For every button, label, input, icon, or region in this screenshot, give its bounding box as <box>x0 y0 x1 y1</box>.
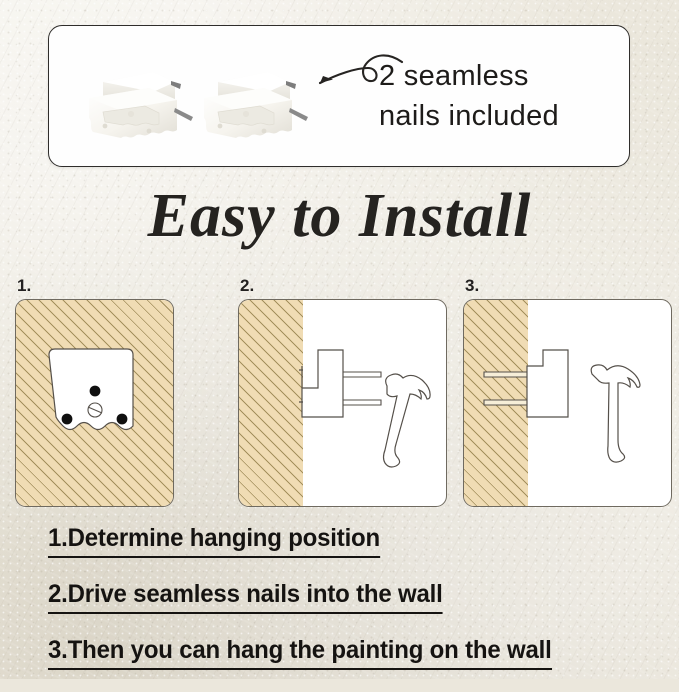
infographic-canvas: 2 seamlessnails included Easy to Install… <box>0 0 679 679</box>
seamless-nail-mount-icon <box>79 64 201 156</box>
instruction-line: 1.Determine hanging position <box>48 524 380 558</box>
step-number: 3. <box>465 277 672 294</box>
hero-headline: 2 seamlessnails included <box>379 56 619 136</box>
instruction-list: 1.Determine hanging position 2.Drive sea… <box>48 524 658 692</box>
seamless-nail-mount-icon <box>194 64 316 156</box>
step-number: 2. <box>240 277 447 294</box>
instruction-line: 2.Drive seamless nails into the wall <box>48 580 443 614</box>
mount-front-view-icon <box>16 300 173 506</box>
step-3-illustration <box>463 299 672 507</box>
step-number: 1. <box>17 277 174 294</box>
step-3: 3. <box>463 277 672 507</box>
hero-card: 2 seamlessnails included <box>48 25 630 167</box>
mount-driven-into-wall-icon <box>464 300 671 506</box>
step-1: 1. <box>15 277 174 507</box>
step-2-illustration <box>238 299 447 507</box>
step-2: 2. <box>238 277 447 507</box>
instruction-line: 3.Then you can hang the painting on the … <box>48 636 552 670</box>
step-1-illustration <box>15 299 174 507</box>
mount-before-driving-icon <box>239 300 446 506</box>
page-title: Easy to Install <box>0 181 679 252</box>
